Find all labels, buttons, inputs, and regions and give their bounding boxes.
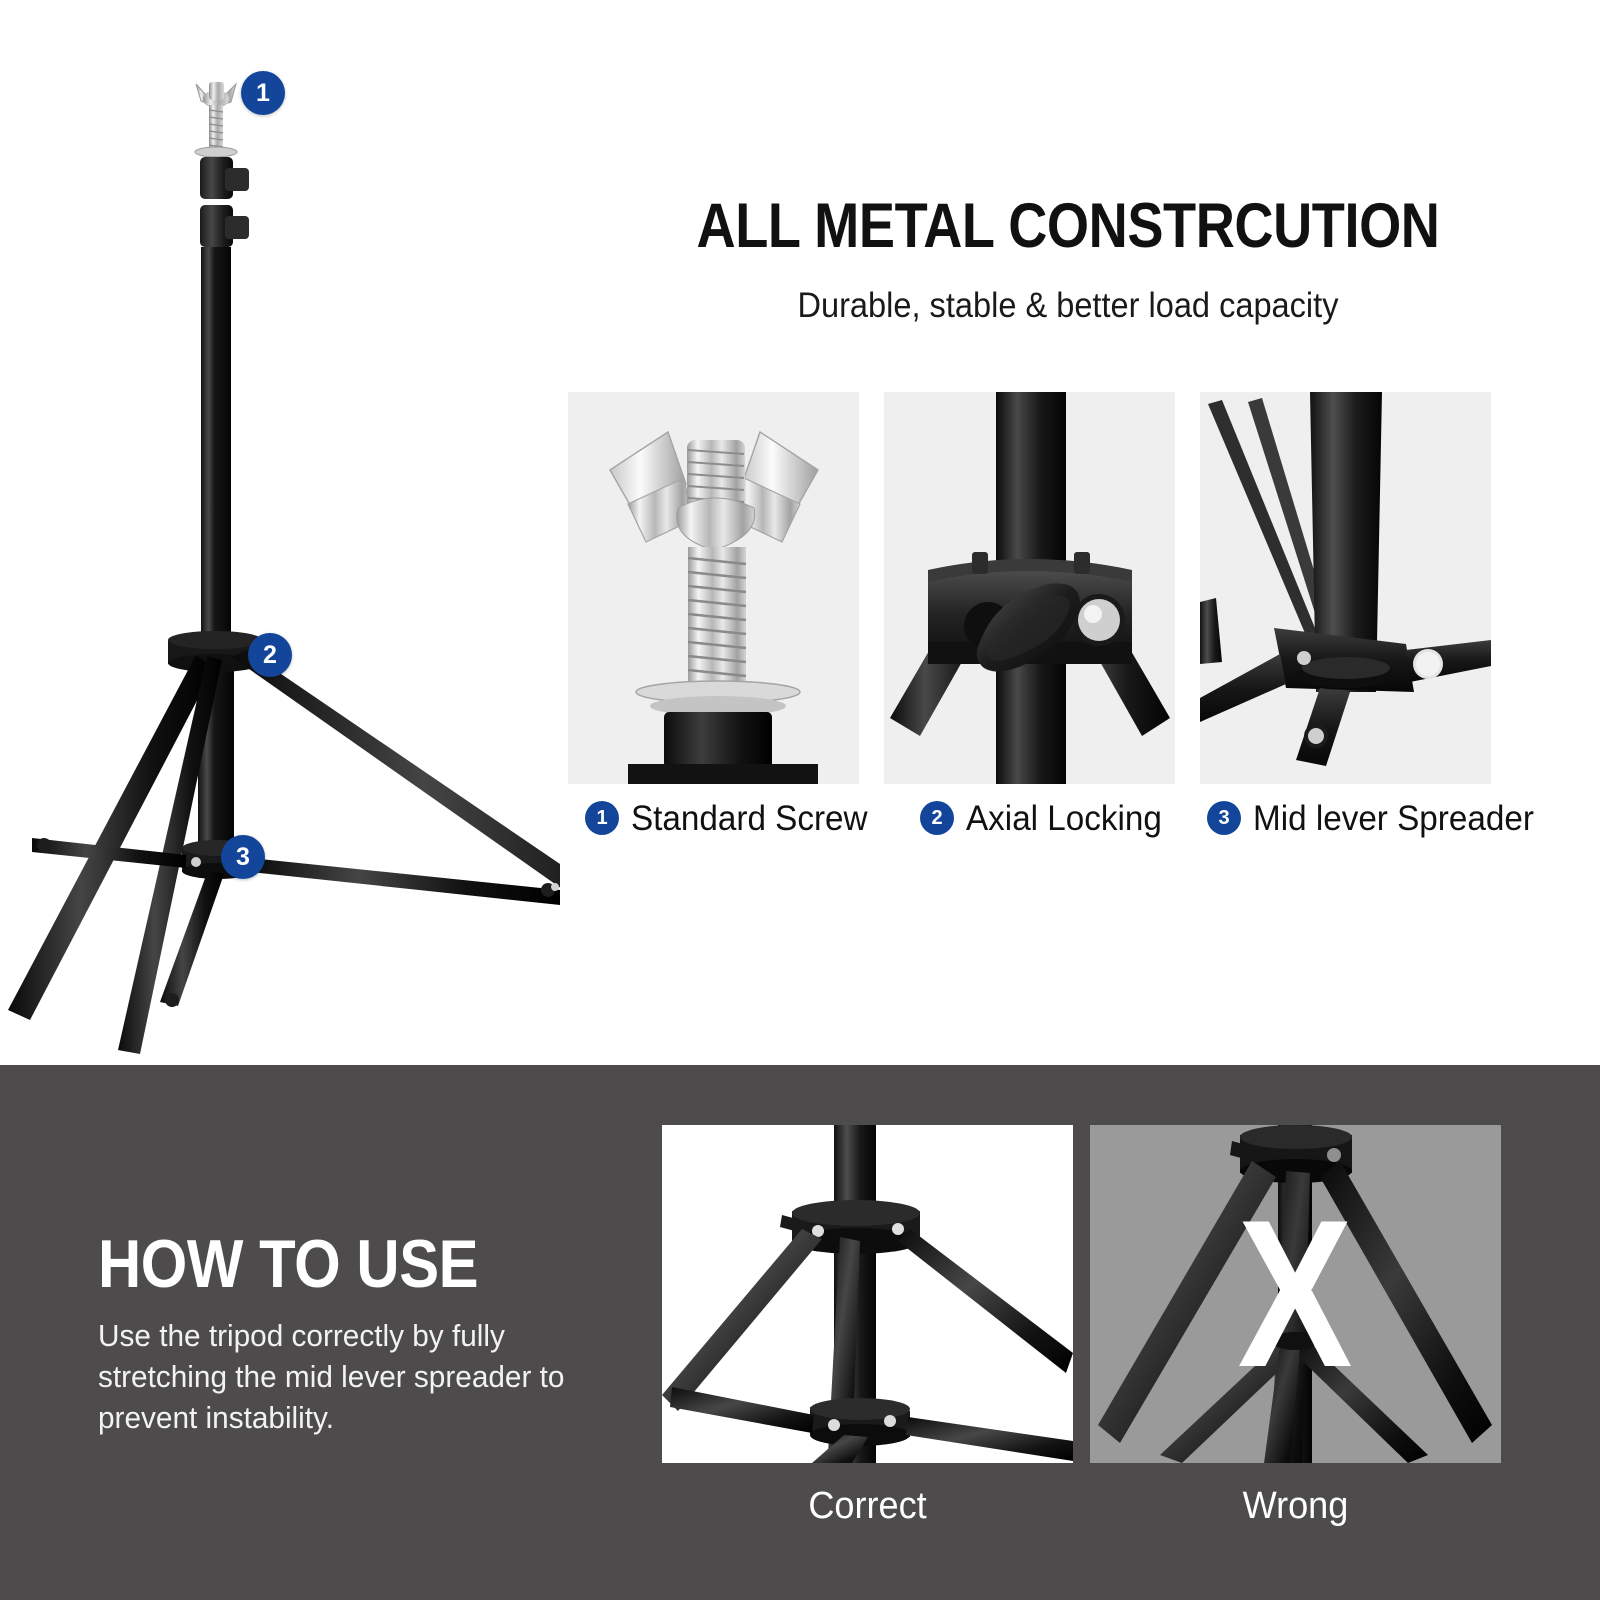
caption-label-1: Standard Screw: [631, 801, 868, 836]
caption-label-2: Axial Locking: [966, 801, 1162, 836]
usage-label-wrong: Wrong: [1100, 1487, 1490, 1525]
usage-label-correct: Correct: [672, 1487, 1062, 1525]
caption-badge-1: 1: [585, 801, 619, 835]
caption-badge-3: 3: [1207, 801, 1241, 835]
feature-caption-axial-locking: 2 Axial Locking: [920, 795, 1172, 841]
feature-photo-mid-lever-spreader: [1200, 392, 1491, 784]
caption-label-3: Mid lever Spreader: [1253, 801, 1534, 836]
all-metal-construction-section: 1 2 3 ALL METAL CONSTRCUTION Durable, st…: [0, 0, 1600, 1065]
feature-photo-axial-locking: [884, 392, 1175, 784]
hero-tripod-illustration: [0, 0, 560, 1065]
feature-caption-mid-lever-spreader: 3 Mid lever Spreader: [1207, 795, 1549, 841]
feature-photo-standard-screw: [568, 392, 859, 784]
hero-marker-3: 3: [221, 835, 265, 879]
how-to-use-body: Use the tripod correctly by fully stretc…: [98, 1315, 597, 1439]
usage-panel-wrong: [1090, 1125, 1501, 1463]
hero-marker-2: 2: [248, 633, 292, 677]
hero-marker-1: 1: [241, 71, 285, 115]
feature-caption-standard-screw: 1 Standard Screw: [585, 795, 880, 841]
usage-panel-correct: [662, 1125, 1073, 1463]
caption-badge-2: 2: [920, 801, 954, 835]
section-subtitle: Durable, stable & better load capacity: [603, 286, 1533, 326]
section-title: ALL METAL CONSTRCUTION: [638, 190, 1498, 262]
how-to-use-title: HOW TO USE: [98, 1225, 478, 1303]
